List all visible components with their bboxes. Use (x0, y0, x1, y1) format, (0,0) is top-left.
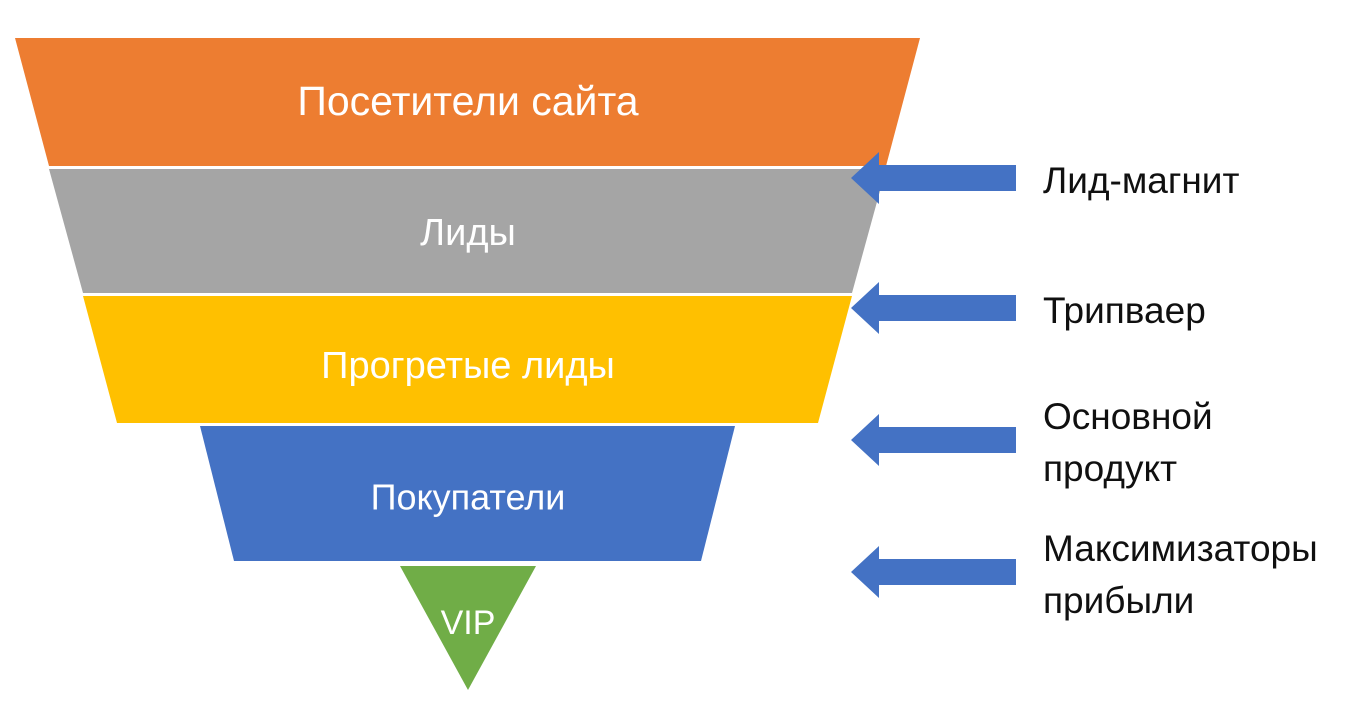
callout-arrow-lead-magnet[interactable] (851, 152, 1016, 204)
callout-arrow-core-product[interactable] (851, 414, 1016, 466)
callout-label-core-product: Основной продукт (1043, 391, 1213, 495)
funnel-label-buyers: Покупатели (371, 477, 566, 518)
funnel-label-visitors: Посетители сайта (297, 78, 638, 124)
funnel-diagram-canvas: Посетители сайта Лиды Прогретые лиды Пок… (0, 0, 1354, 701)
callout-label-profit-maximizers: Максимизаторы прибыли (1043, 523, 1318, 627)
callout-arrow-tripwire[interactable] (851, 282, 1016, 334)
funnel-label-vip: VIP (441, 604, 496, 642)
callout-label-tripwire: Трипваер (1043, 285, 1206, 337)
callout-label-lead-magnet: Лид-магнит (1043, 155, 1239, 207)
funnel-label-leads: Лиды (420, 212, 516, 254)
callout-arrows (851, 152, 1016, 598)
funnel-label-warm-leads: Прогретые лиды (321, 345, 615, 387)
callout-arrow-profit-maximizers[interactable] (851, 546, 1016, 598)
